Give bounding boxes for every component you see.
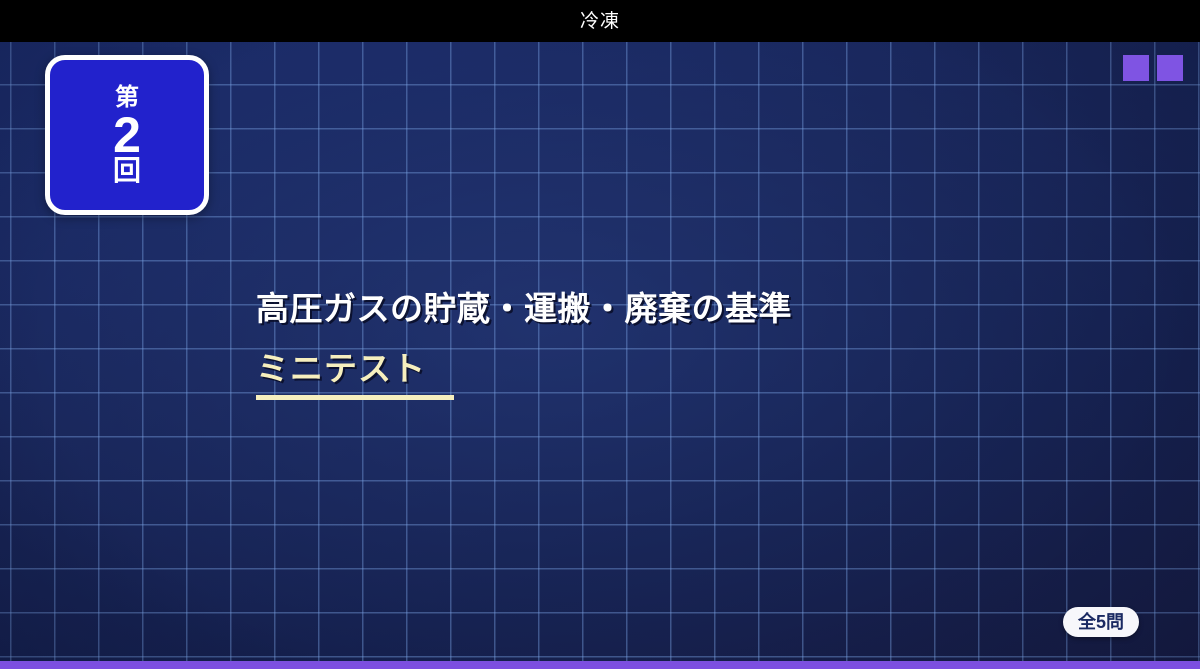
headline-main-title: 高圧ガスの貯蔵・運搬・廃棄の基準 — [256, 288, 792, 329]
episode-prefix-label: 第 — [115, 86, 139, 110]
headline-subtitle-wrapper: ミニテスト — [256, 349, 454, 400]
question-count-badge: 全5問 — [1063, 607, 1139, 637]
bottom-accent-bar — [0, 661, 1200, 669]
episode-number-label: 2 — [113, 112, 141, 158]
top-title-bar: 冷凍 — [0, 0, 1200, 42]
purple-square-icon — [1123, 55, 1149, 81]
purple-square-icon — [1157, 55, 1183, 81]
slide-screen: 冷凍 第 2 回 高圧ガスの貯蔵・運搬・廃棄の基準 ミニテスト 全5問 — [0, 0, 1200, 669]
episode-badge: 第 2 回 — [45, 55, 209, 215]
decoration-squares-group — [1123, 55, 1183, 81]
subtitle-underline — [256, 395, 454, 400]
question-count-label: 全5問 — [1078, 613, 1124, 631]
episode-suffix-label: 回 — [113, 157, 141, 185]
slide-body: 第 2 回 高圧ガスの貯蔵・運搬・廃棄の基準 ミニテスト 全5問 — [0, 42, 1200, 661]
top-title-text: 冷凍 — [580, 12, 620, 31]
headline-block: 高圧ガスの貯蔵・運搬・廃棄の基準 ミニテスト — [256, 288, 792, 400]
headline-subtitle: ミニテスト — [256, 349, 454, 389]
